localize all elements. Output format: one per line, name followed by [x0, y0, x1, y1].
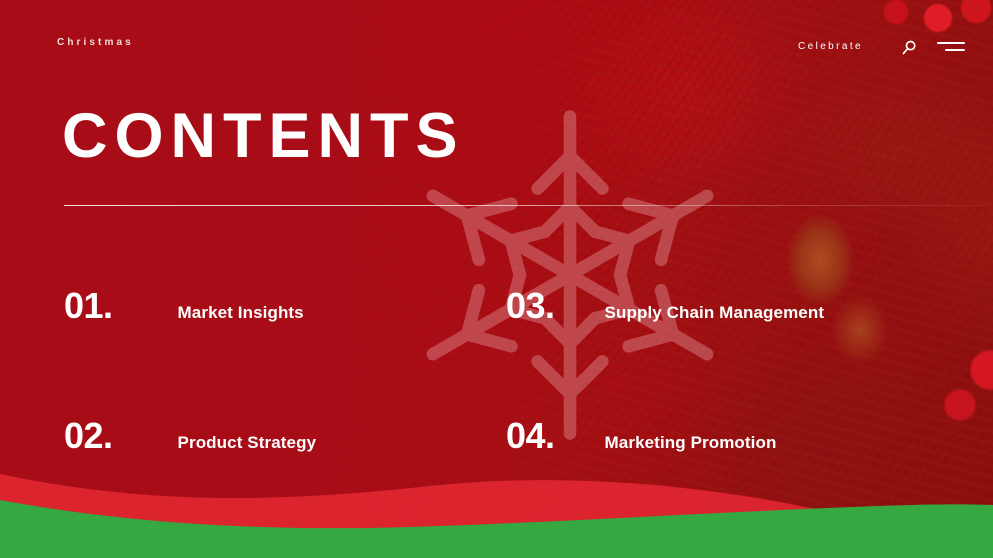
contents-item-label: Market Insights — [178, 304, 304, 321]
contents-item-label: Supply Chain Management — [605, 304, 825, 321]
contents-item-number: 03. — [506, 288, 555, 324]
bottom-wave-decoration — [0, 448, 993, 558]
contents-item-number: 01. — [64, 288, 113, 324]
contents-item-01[interactable]: 01. Market Insights — [64, 288, 304, 324]
contents-item-03[interactable]: 03. Supply Chain Management — [506, 288, 824, 324]
presentation-slide: Christmas Celebrate CONTENTS 01. Market … — [0, 0, 993, 558]
